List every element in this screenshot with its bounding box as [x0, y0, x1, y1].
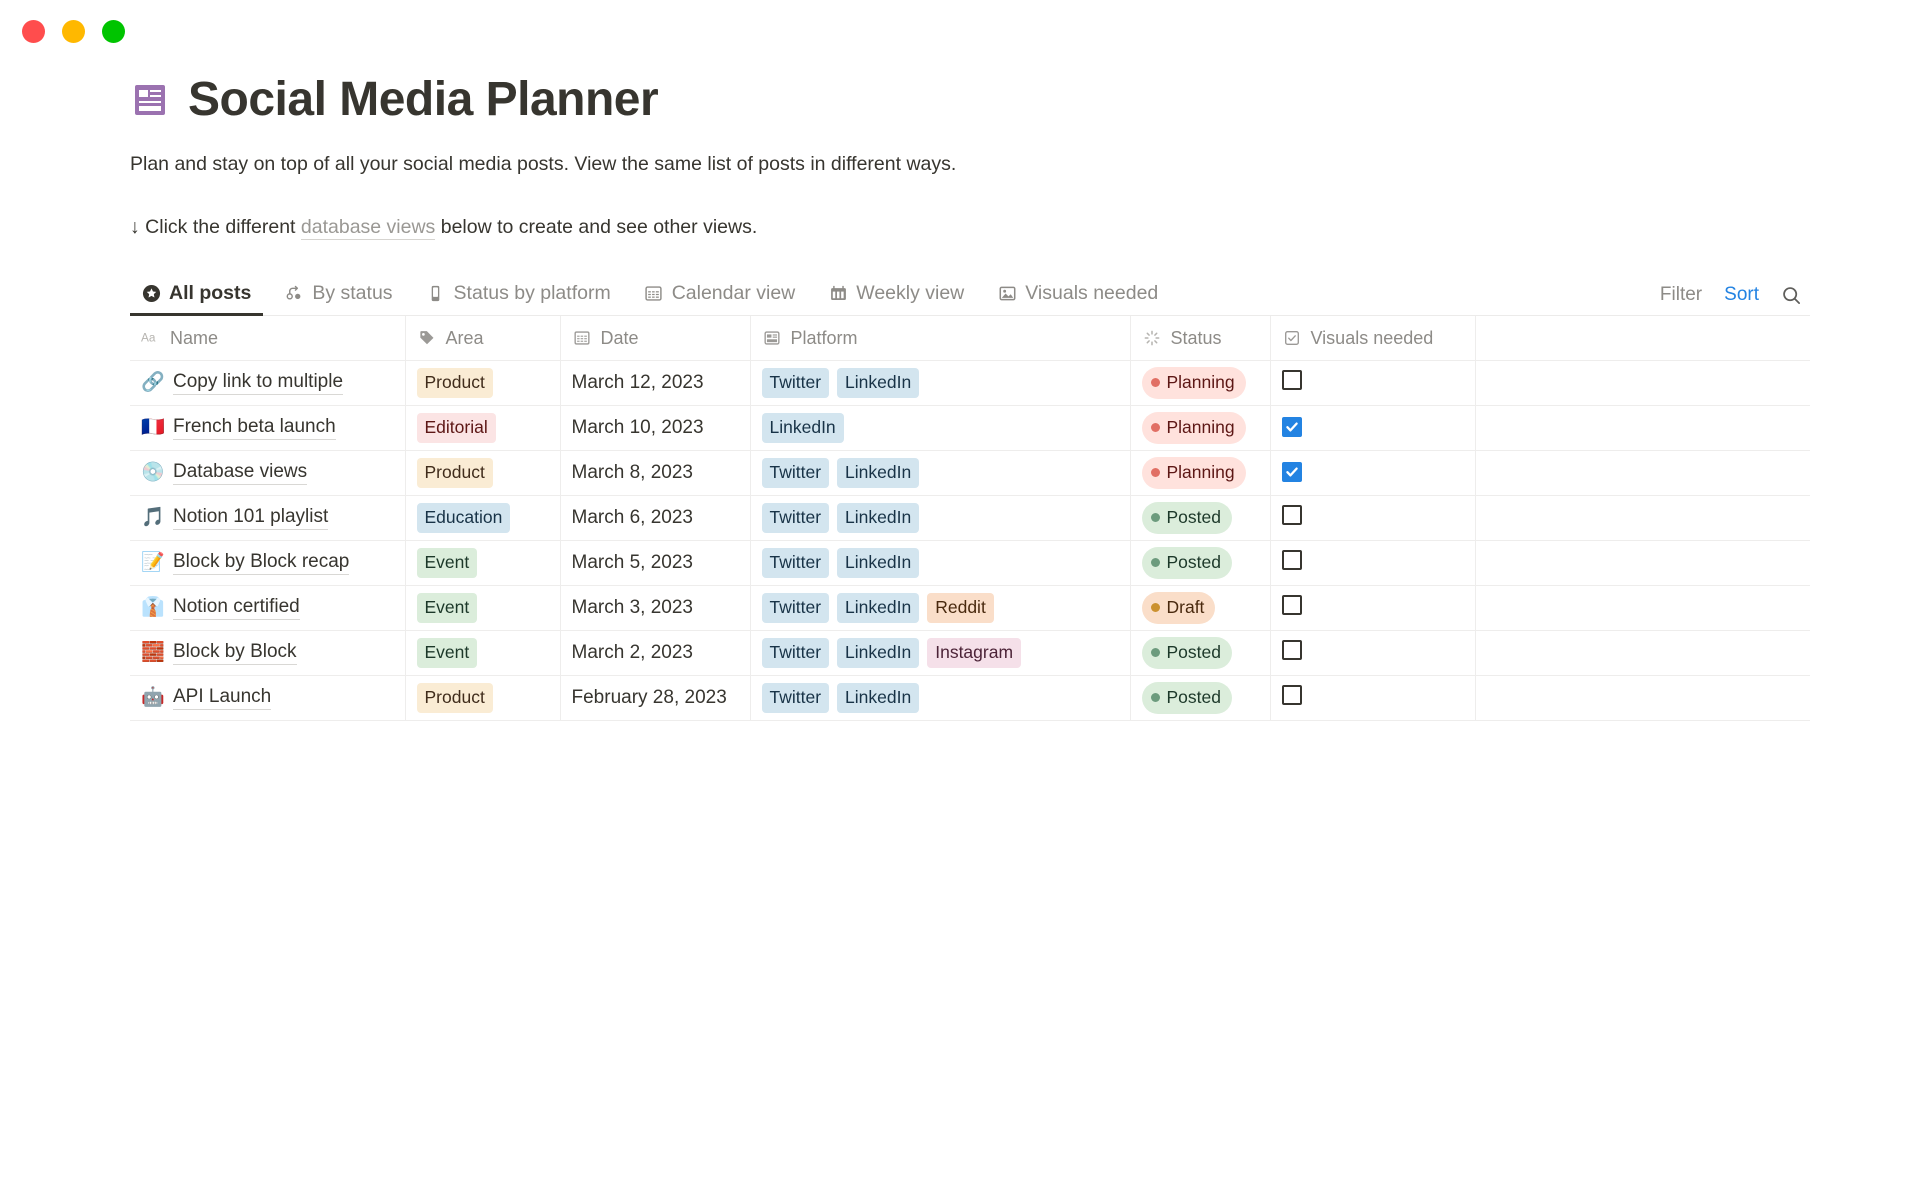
tab-calendar-view[interactable]: Calendar view	[633, 271, 808, 315]
platform-tags: TwitterLinkedIn	[762, 368, 1119, 399]
cell-platform[interactable]: TwitterLinkedIn	[750, 495, 1130, 540]
date-value: March 5, 2023	[572, 552, 693, 573]
platform-tag: Twitter	[762, 458, 830, 489]
page-hint: ↓ Click the different database views bel…	[130, 213, 1810, 242]
area-tag: Product	[417, 368, 493, 399]
filter-button[interactable]: Filter	[1660, 284, 1702, 306]
cell-visuals-needed[interactable]	[1270, 405, 1475, 450]
date-value: March 3, 2023	[572, 597, 693, 618]
page-hint-prefix: ↓ Click the different	[130, 216, 301, 238]
cell-visuals-needed[interactable]	[1270, 585, 1475, 630]
cell-platform[interactable]: TwitterLinkedInReddit	[750, 585, 1130, 630]
status-badge: Posted	[1142, 547, 1232, 580]
table-header-row: Aa Name Area	[130, 316, 1810, 360]
row-icon: 🧱	[141, 643, 163, 662]
platform-tag: Instagram	[927, 638, 1021, 669]
row-title[interactable]: Database views	[173, 461, 307, 485]
minimize-button[interactable]	[62, 20, 85, 43]
platform-tag: LinkedIn	[837, 503, 919, 534]
tab-all-posts[interactable]: All posts	[130, 271, 263, 315]
tab-label: All posts	[169, 282, 251, 305]
status-dot-icon	[1151, 513, 1160, 522]
date-value: March 8, 2023	[572, 462, 693, 483]
date-value: March 6, 2023	[572, 507, 693, 528]
cell-empty	[1475, 495, 1810, 540]
platform-tag: LinkedIn	[837, 638, 919, 669]
column-header-label: Area	[446, 328, 484, 349]
cell-area[interactable]: Event	[405, 630, 560, 675]
cell-visuals-needed[interactable]	[1270, 675, 1475, 720]
status-label: Draft	[1167, 599, 1205, 617]
multi-select-icon	[762, 328, 782, 348]
platform-tags: TwitterLinkedIn	[762, 503, 1119, 534]
area-tag: Product	[417, 458, 493, 489]
page-icon[interactable]	[130, 80, 170, 120]
row-title[interactable]: API Launch	[173, 686, 271, 710]
calendar-icon	[644, 283, 664, 303]
cell-area[interactable]: Product	[405, 675, 560, 720]
visuals-needed-checkbox[interactable]	[1282, 595, 1302, 615]
platform-tag: Twitter	[762, 548, 830, 579]
cell-status[interactable]: Posted	[1130, 675, 1270, 720]
status-badge: Posted	[1142, 637, 1232, 670]
view-tabs: All posts By status Status by platform	[130, 271, 1180, 315]
table-row: 🤖API LaunchProductFebruary 28, 2023Twitt…	[130, 675, 1810, 720]
tab-label: Calendar view	[672, 282, 796, 305]
platform-tags: TwitterLinkedInReddit	[762, 593, 1119, 624]
area-tag: Education	[417, 503, 511, 534]
column-header-area[interactable]: Area	[405, 316, 560, 360]
row-icon: 🇫🇷	[141, 418, 163, 437]
row-title[interactable]: Copy link to multiple	[173, 371, 343, 395]
search-icon[interactable]	[1781, 285, 1802, 306]
cell-date[interactable]: March 6, 2023	[560, 495, 750, 540]
page-hint-suffix: below to create and see other views.	[435, 216, 757, 238]
platform-tag: Twitter	[762, 503, 830, 534]
cell-platform[interactable]: TwitterLinkedIn	[750, 540, 1130, 585]
platform-tag: Twitter	[762, 638, 830, 669]
platform-tag: Twitter	[762, 368, 830, 399]
column-header-label: Date	[601, 328, 639, 349]
cell-platform[interactable]: TwitterLinkedIn	[750, 360, 1130, 405]
cell-date[interactable]: March 3, 2023	[560, 585, 750, 630]
column-header-name[interactable]: Aa Name	[130, 316, 405, 360]
calendar-icon	[572, 328, 592, 348]
tab-status-by-platform[interactable]: Status by platform	[415, 271, 623, 315]
platform-tag: LinkedIn	[837, 683, 919, 714]
cell-visuals-needed[interactable]	[1270, 630, 1475, 675]
cell-area[interactable]: Event	[405, 540, 560, 585]
status-label: Posted	[1167, 689, 1221, 707]
date-value: March 2, 2023	[572, 642, 693, 663]
table-row: 🎵Notion 101 playlistEducationMarch 6, 20…	[130, 495, 1810, 540]
cell-name: 👔Notion certified	[130, 585, 405, 630]
column-header-add[interactable]	[1475, 316, 1810, 360]
status-badge: Planning	[1142, 457, 1246, 490]
cell-empty	[1475, 360, 1810, 405]
cell-status[interactable]: Posted	[1130, 540, 1270, 585]
text-type-icon: Aa	[141, 328, 161, 348]
status-badge: Draft	[1142, 592, 1216, 625]
cell-name: 🔗Copy link to multiple	[130, 360, 405, 405]
date-value: March 12, 2023	[572, 372, 704, 393]
status-badge: Posted	[1142, 682, 1232, 715]
cell-status[interactable]: Planning	[1130, 405, 1270, 450]
cell-date[interactable]: March 12, 2023	[560, 360, 750, 405]
group-by-icon	[284, 283, 304, 303]
cell-name: 🤖API Launch	[130, 675, 405, 720]
visuals-needed-checkbox[interactable]	[1282, 462, 1302, 482]
sort-button[interactable]: Sort	[1724, 284, 1759, 306]
cell-visuals-needed[interactable]	[1270, 540, 1475, 585]
visuals-needed-checkbox[interactable]	[1282, 417, 1302, 437]
view-toolbar-actions: Filter Sort	[1660, 284, 1808, 315]
cell-name: 🇫🇷French beta launch	[130, 405, 405, 450]
platform-tags: LinkedIn	[762, 413, 1119, 444]
table-row: 👔Notion certifiedEventMarch 3, 2023Twitt…	[130, 585, 1810, 630]
cell-date[interactable]: March 8, 2023	[560, 450, 750, 495]
platform-tag: LinkedIn	[837, 593, 919, 624]
status-label: Planning	[1167, 374, 1235, 392]
cell-empty	[1475, 540, 1810, 585]
cell-platform[interactable]: TwitterLinkedIn	[750, 675, 1130, 720]
cell-empty	[1475, 630, 1810, 675]
cell-empty	[1475, 405, 1810, 450]
status-dot-icon	[1151, 693, 1160, 702]
area-tag: Event	[417, 638, 478, 669]
column-header-label: Status	[1171, 328, 1222, 349]
status-label: Posted	[1167, 509, 1221, 527]
area-tag: Product	[417, 683, 493, 714]
column-header-label: Visuals needed	[1311, 328, 1434, 349]
cell-status[interactable]: Posted	[1130, 495, 1270, 540]
maximize-button[interactable]	[102, 20, 125, 43]
cell-status[interactable]: Posted	[1130, 630, 1270, 675]
checkbox-icon	[1282, 328, 1302, 348]
cell-platform[interactable]: LinkedIn	[750, 405, 1130, 450]
row-title[interactable]: Notion 101 playlist	[173, 506, 328, 530]
status-dot-icon	[1151, 378, 1160, 387]
column-header-visuals-needed[interactable]: Visuals needed	[1270, 316, 1475, 360]
tab-label: Status by platform	[454, 282, 611, 305]
row-title[interactable]: Block by Block recap	[173, 551, 349, 575]
status-badge: Planning	[1142, 367, 1246, 400]
area-tag: Event	[417, 593, 478, 624]
cell-name: 💿Database views	[130, 450, 405, 495]
platform-tag: LinkedIn	[762, 413, 844, 444]
database-views-bar: All posts By status Status by platform	[130, 272, 1810, 316]
cell-date[interactable]: February 28, 2023	[560, 675, 750, 720]
visuals-needed-checkbox[interactable]	[1282, 550, 1302, 570]
status-badge: Posted	[1142, 502, 1232, 535]
area-tag: Editorial	[417, 413, 496, 444]
visuals-needed-checkbox[interactable]	[1282, 640, 1302, 660]
column-header-date[interactable]: Date	[560, 316, 750, 360]
cell-area[interactable]: Product	[405, 360, 560, 405]
row-icon: 👔	[141, 598, 163, 617]
cell-area[interactable]: Editorial	[405, 405, 560, 450]
table-row: 🇫🇷French beta launchEditorialMarch 10, 2…	[130, 405, 1810, 450]
area-tag: Event	[417, 548, 478, 579]
status-dot-icon	[1151, 648, 1160, 657]
status-dot-icon	[1151, 603, 1160, 612]
table-row: 🧱Block by BlockEventMarch 2, 2023Twitter…	[130, 630, 1810, 675]
timeline-icon	[828, 283, 848, 303]
cell-empty	[1475, 450, 1810, 495]
row-icon: 🎵	[141, 508, 163, 527]
table-row: 💿Database viewsProductMarch 8, 2023Twitt…	[130, 450, 1810, 495]
column-header-platform[interactable]: Platform	[750, 316, 1130, 360]
cell-name: 🎵Notion 101 playlist	[130, 495, 405, 540]
tab-visuals-needed[interactable]: Visuals needed	[986, 271, 1170, 315]
status-badge: Planning	[1142, 412, 1246, 445]
page-description: Plan and stay on top of all your social …	[130, 150, 1810, 179]
cell-empty	[1475, 675, 1810, 720]
page-header: Social Media Planner	[130, 74, 1810, 127]
row-title[interactable]: French beta launch	[173, 416, 336, 440]
date-value: March 10, 2023	[572, 417, 704, 438]
cell-date[interactable]: March 2, 2023	[560, 630, 750, 675]
tab-label: Weekly view	[856, 282, 964, 305]
cell-platform[interactable]: TwitterLinkedInInstagram	[750, 630, 1130, 675]
cell-area[interactable]: Event	[405, 585, 560, 630]
tab-label: By status	[312, 282, 392, 305]
cell-area[interactable]: Product	[405, 450, 560, 495]
table-body: 🔗Copy link to multipleProductMarch 12, 2…	[130, 360, 1810, 720]
row-icon: 🤖	[141, 688, 163, 707]
platform-tags: TwitterLinkedIn	[762, 548, 1119, 579]
cell-status[interactable]: Planning	[1130, 360, 1270, 405]
platform-tag: LinkedIn	[837, 548, 919, 579]
cell-status[interactable]: Planning	[1130, 450, 1270, 495]
cell-visuals-needed[interactable]	[1270, 360, 1475, 405]
posts-table: Aa Name Area	[130, 316, 1810, 721]
platform-tag: Twitter	[762, 593, 830, 624]
table-row: 🔗Copy link to multipleProductMarch 12, 2…	[130, 360, 1810, 405]
row-icon: 🔗	[141, 373, 163, 392]
platform-tags: TwitterLinkedIn	[762, 458, 1119, 489]
board-icon	[426, 283, 446, 303]
cell-name: 🧱Block by Block	[130, 630, 405, 675]
cell-status[interactable]: Draft	[1130, 585, 1270, 630]
status-label: Planning	[1167, 464, 1235, 482]
tag-icon	[417, 328, 437, 348]
row-title[interactable]: Notion certified	[173, 596, 300, 620]
cell-date[interactable]: March 10, 2023	[560, 405, 750, 450]
platform-tag: Reddit	[927, 593, 994, 624]
cell-area[interactable]: Education	[405, 495, 560, 540]
date-value: February 28, 2023	[572, 687, 727, 708]
table-row: 📝Block by Block recapEventMarch 5, 2023T…	[130, 540, 1810, 585]
cell-visuals-needed[interactable]	[1270, 450, 1475, 495]
cell-name: 📝Block by Block recap	[130, 540, 405, 585]
row-title[interactable]: Block by Block	[173, 641, 297, 665]
star-circle-icon	[141, 283, 161, 303]
status-dot-icon	[1151, 468, 1160, 477]
status-dot-icon	[1151, 558, 1160, 567]
tab-weekly-view[interactable]: Weekly view	[817, 271, 976, 315]
gallery-icon	[997, 283, 1017, 303]
tab-label: Visuals needed	[1025, 282, 1158, 305]
status-label: Planning	[1167, 419, 1235, 437]
cell-date[interactable]: March 5, 2023	[560, 540, 750, 585]
close-button[interactable]	[22, 20, 45, 43]
platform-tag: LinkedIn	[837, 458, 919, 489]
svg-text:Aa: Aa	[141, 331, 156, 345]
status-dot-icon	[1151, 423, 1160, 432]
tab-by-status[interactable]: By status	[273, 271, 404, 315]
cell-visuals-needed[interactable]	[1270, 495, 1475, 540]
column-header-label: Name	[170, 328, 218, 349]
row-icon: 💿	[141, 463, 163, 482]
page-content: Social Media Planner Plan and stay on to…	[0, 62, 1920, 721]
column-header-status[interactable]: Status	[1130, 316, 1270, 360]
status-icon	[1142, 328, 1162, 348]
platform-tags: TwitterLinkedIn	[762, 683, 1119, 714]
platform-tag: LinkedIn	[837, 368, 919, 399]
column-header-label: Platform	[791, 328, 858, 349]
status-label: Posted	[1167, 554, 1221, 572]
window-titlebar	[0, 0, 1920, 62]
database-views-link[interactable]: database views	[301, 216, 435, 240]
page-title: Social Media Planner	[188, 74, 658, 127]
status-label: Posted	[1167, 644, 1221, 662]
platform-tags: TwitterLinkedInInstagram	[762, 638, 1119, 669]
platform-tag: Twitter	[762, 683, 830, 714]
table-header: Aa Name Area	[130, 316, 1810, 360]
row-icon: 📝	[141, 553, 163, 572]
visuals-needed-checkbox[interactable]	[1282, 505, 1302, 525]
visuals-needed-checkbox[interactable]	[1282, 370, 1302, 390]
cell-empty	[1475, 585, 1810, 630]
visuals-needed-checkbox[interactable]	[1282, 685, 1302, 705]
cell-platform[interactable]: TwitterLinkedIn	[750, 450, 1130, 495]
